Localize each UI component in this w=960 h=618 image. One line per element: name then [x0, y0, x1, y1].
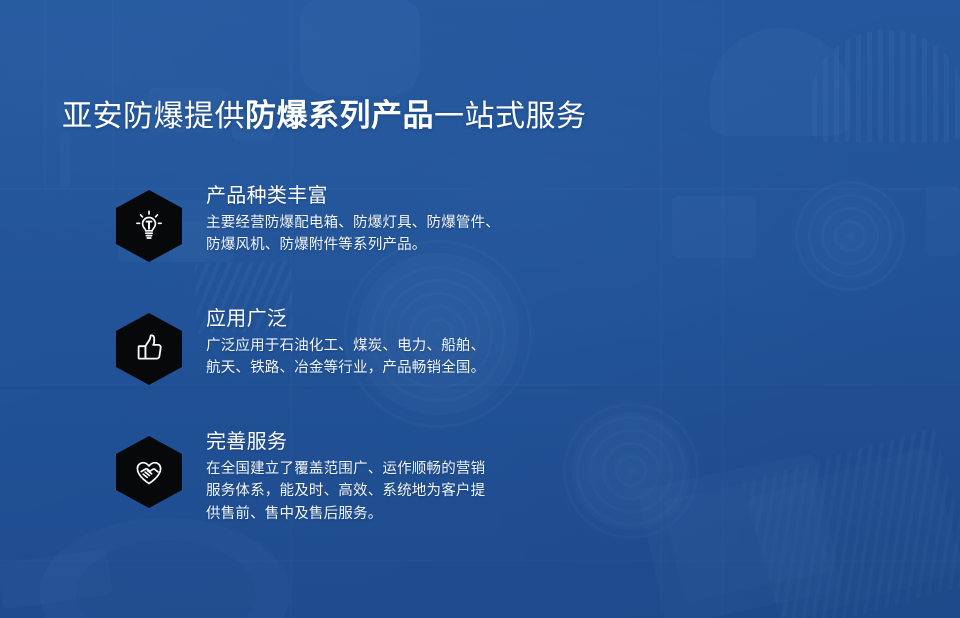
feature-item: 完善服务 在全国建立了覆盖范围广、运作顺畅的营销 服务体系，能及时、高效、系统地…: [116, 430, 586, 525]
feature-text: 完善服务 在全国建立了覆盖范围广、运作顺畅的营销 服务体系，能及时、高效、系统地…: [206, 430, 485, 525]
feature-description-line: 服务体系，能及时、高效、系统地为客户提: [206, 480, 485, 502]
page-title: 亚安防爆提供防爆系列产品一站式服务: [62, 99, 587, 133]
feature-description-line: 主要经营防爆配电箱、防爆灯具、防爆管件、: [206, 212, 500, 234]
headline-suffix: 一站式服务: [434, 100, 587, 133]
banner-content: 亚安防爆提供防爆系列产品一站式服务: [0, 0, 960, 618]
feature-title: 完善服务: [206, 430, 485, 455]
feature-item: 产品种类丰富 主要经营防爆配电箱、防爆灯具、防爆管件、 防爆风机、防爆附件等系列…: [116, 184, 586, 262]
feature-icon-badge: [116, 190, 182, 262]
feature-title: 应用广泛: [206, 307, 485, 332]
feature-description-line: 广泛应用于石油化工、煤炭、电力、船舶、: [206, 335, 485, 357]
feature-description-line: 防爆风机、防爆附件等系列产品。: [206, 234, 500, 256]
headline-prefix: 亚安防爆提供: [62, 100, 245, 133]
feature-description: 广泛应用于石油化工、煤炭、电力、船舶、 航天、铁路、冶金等行业，产品畅销全国。: [206, 335, 485, 380]
feature-text: 应用广泛 广泛应用于石油化工、煤炭、电力、船舶、 航天、铁路、冶金等行业，产品畅…: [206, 307, 485, 380]
promo-banner: 亚安防爆提供防爆系列产品一站式服务: [0, 0, 960, 618]
feature-description-line: 在全国建立了覆盖范围广、运作顺畅的营销: [206, 458, 485, 480]
feature-item: 应用广泛 广泛应用于石油化工、煤炭、电力、船舶、 航天、铁路、冶金等行业，产品畅…: [116, 307, 586, 385]
feature-icon-badge: [116, 313, 182, 385]
feature-title: 产品种类丰富: [206, 184, 500, 209]
feature-description: 主要经营防爆配电箱、防爆灯具、防爆管件、 防爆风机、防爆附件等系列产品。: [206, 212, 500, 257]
feature-description-line: 供售前、售中及售后服务。: [206, 503, 485, 525]
feature-description-line: 航天、铁路、冶金等行业，产品畅销全国。: [206, 357, 485, 379]
feature-description: 在全国建立了覆盖范围广、运作顺畅的营销 服务体系，能及时、高效、系统地为客户提 …: [206, 458, 485, 525]
headline-emphasis: 防爆系列产品: [245, 98, 434, 133]
handshake-heart-icon: [116, 436, 182, 508]
feature-text: 产品种类丰富 主要经营防爆配电箱、防爆灯具、防爆管件、 防爆风机、防爆附件等系列…: [206, 184, 500, 257]
feature-icon-badge: [116, 436, 182, 508]
lightbulb-icon: [116, 190, 182, 262]
feature-list: 产品种类丰富 主要经营防爆配电箱、防爆灯具、防爆管件、 防爆风机、防爆附件等系列…: [116, 184, 586, 525]
thumbs-up-icon: [116, 313, 182, 385]
